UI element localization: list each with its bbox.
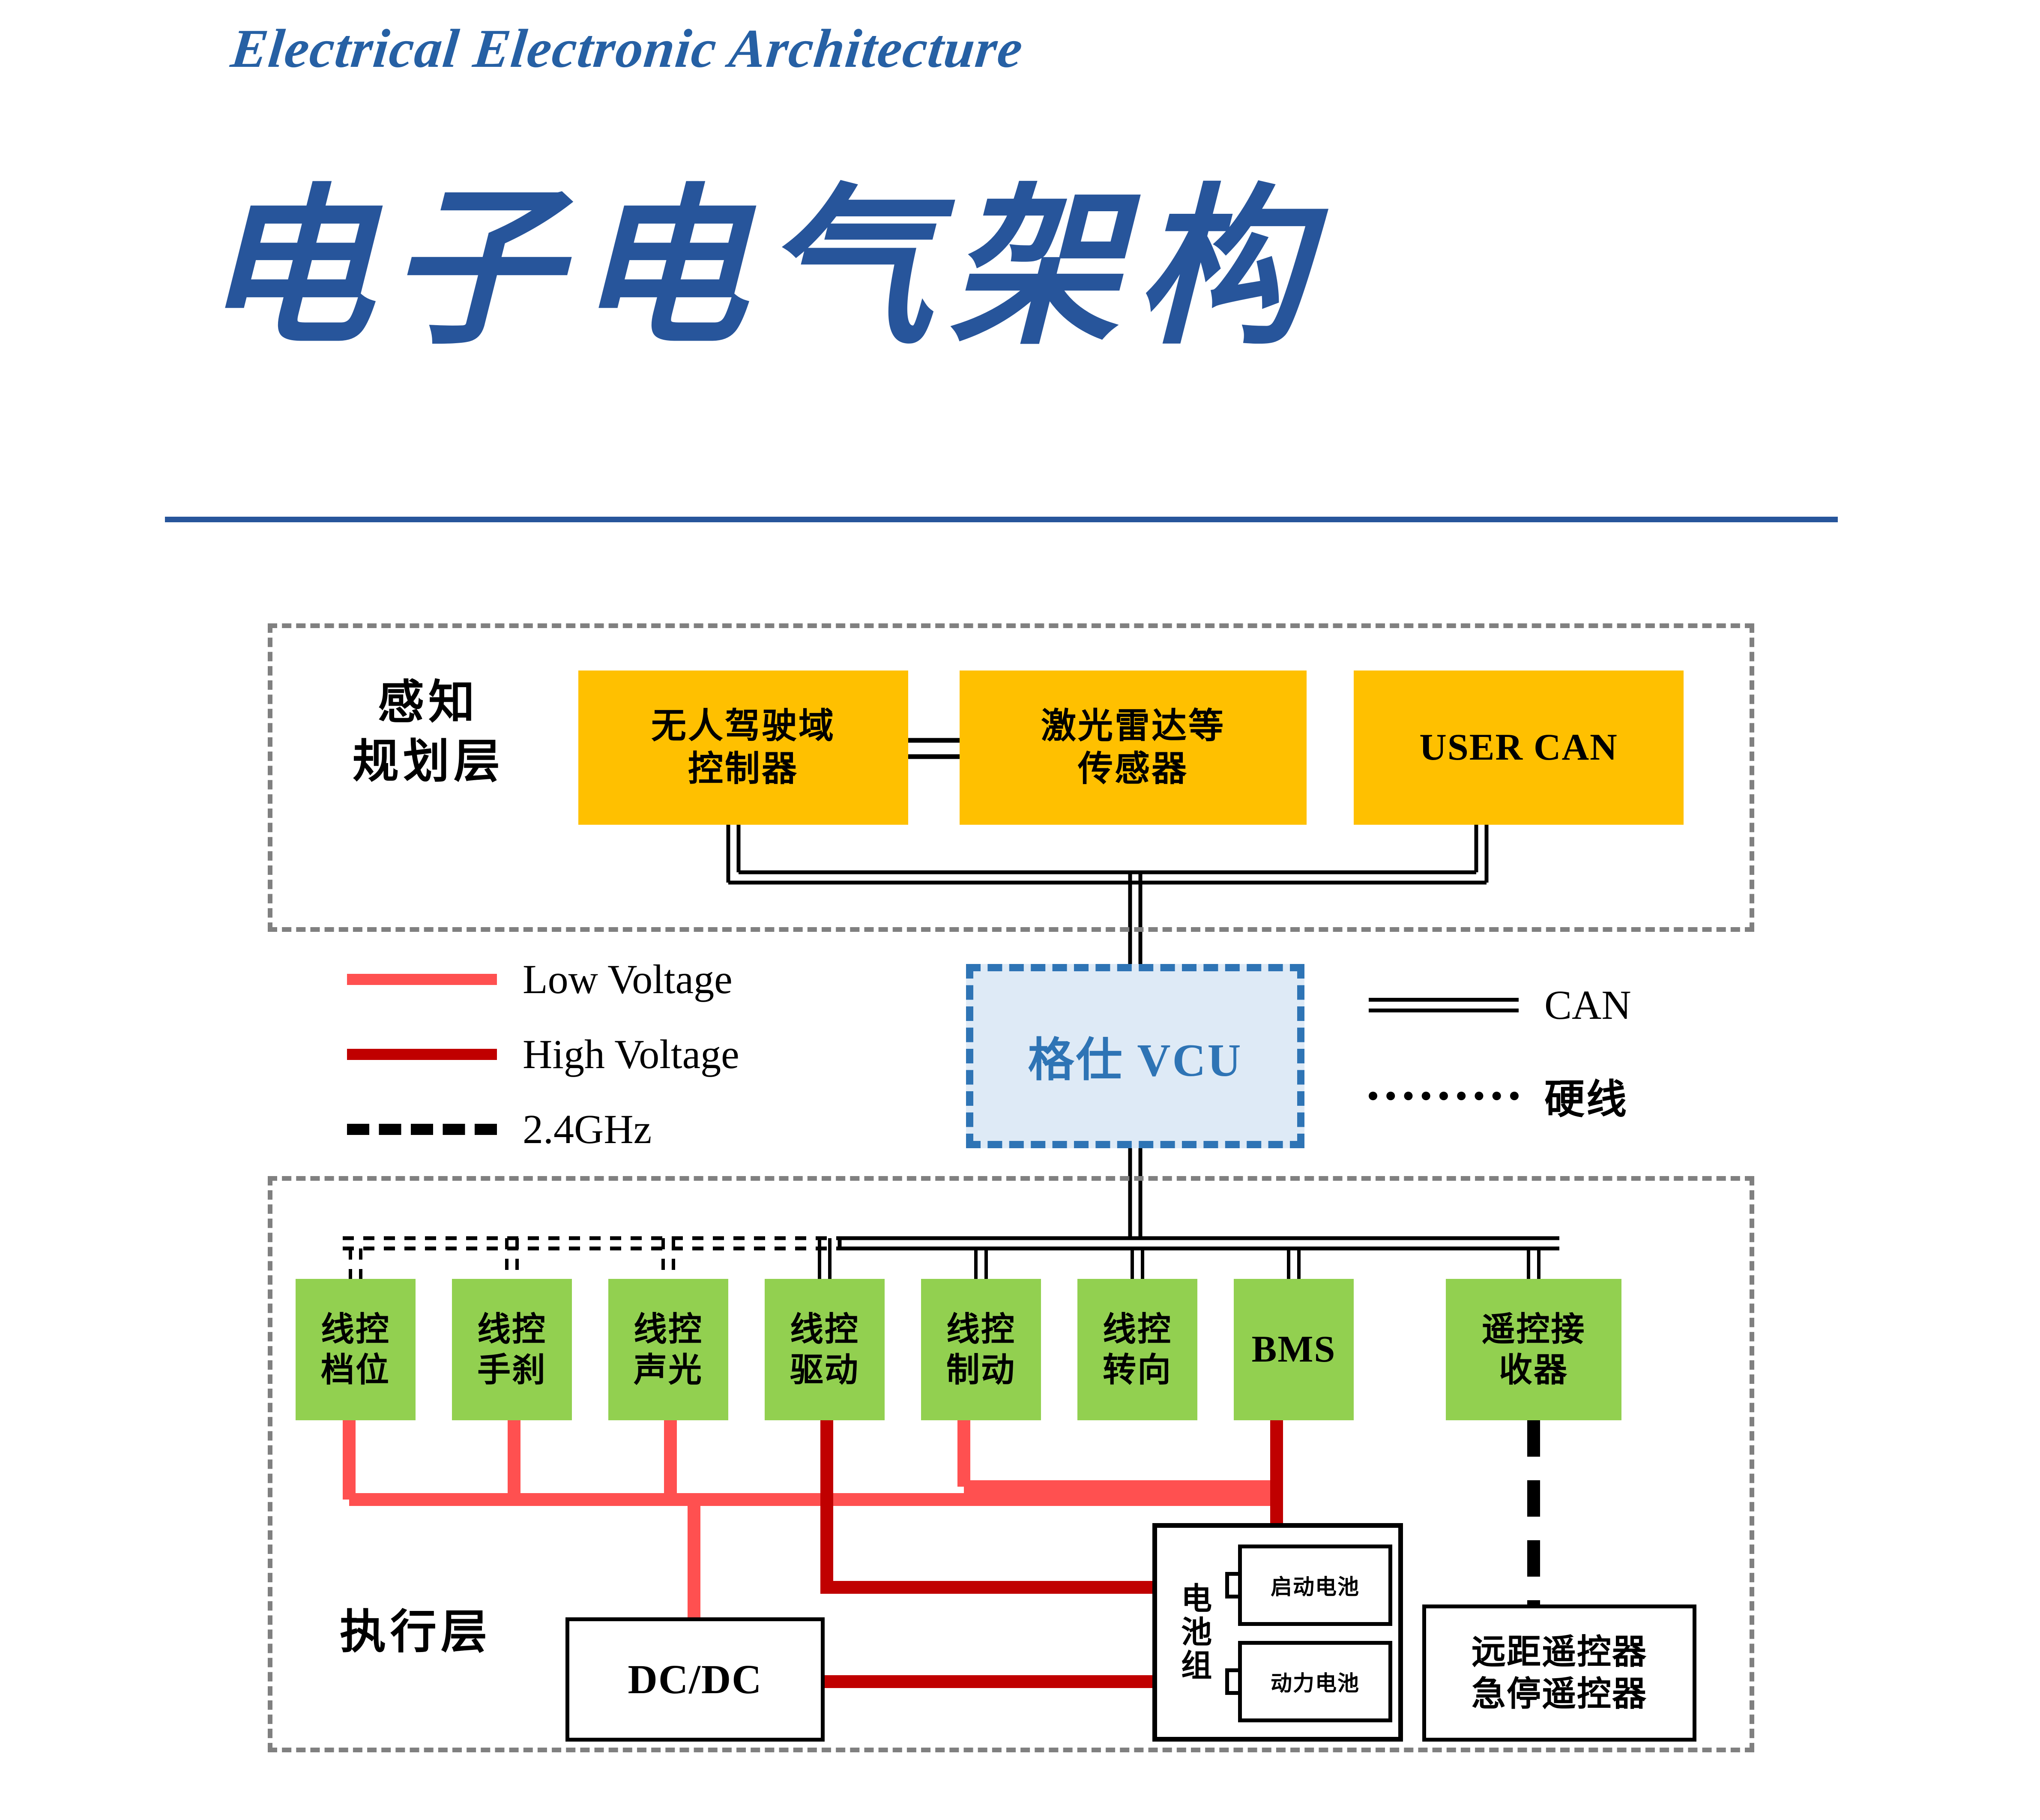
node-bms[interactable]: BMS xyxy=(1234,1279,1354,1420)
legend-item-low-voltage: Low Voltage xyxy=(347,955,733,1003)
battery-pack-label: 电池组 xyxy=(1165,1538,1221,1727)
title-divider-rule xyxy=(165,517,1838,522)
node-traction-battery[interactable]: 动力电池 xyxy=(1238,1641,1392,1722)
diagram-canvas: Electrical Electronic Architecture 电子电气架… xyxy=(0,0,2040,1820)
node-wire-control-sound-light[interactable]: 线控 声光 xyxy=(608,1279,728,1420)
page-title-chinese: 电子电气架构 xyxy=(201,184,1322,356)
node-wire-control-gear[interactable]: 线控 档位 xyxy=(296,1279,416,1420)
legend-item-hardwire: 硬线 xyxy=(1369,1067,1628,1125)
node-wire-control-handbrake[interactable]: 线控 手刹 xyxy=(452,1279,572,1420)
execution-layer-label: 执行层 xyxy=(326,1602,506,1661)
node-remote-controllers[interactable]: 远距遥控器 急停遥控器 xyxy=(1422,1604,1696,1742)
node-vcu[interactable]: 格仕 VCU xyxy=(966,964,1304,1148)
node-remote-receiver[interactable]: 遥控接 收器 xyxy=(1446,1279,1621,1420)
legend-label-rf: 2.4GHz xyxy=(523,1105,652,1153)
node-dcdc-converter[interactable]: DC/DC xyxy=(565,1617,825,1742)
node-wire-control-brake[interactable]: 线控 制动 xyxy=(921,1279,1041,1420)
legend-item-high-voltage: High Voltage xyxy=(347,1030,739,1078)
node-wire-control-steering[interactable]: 线控 转向 xyxy=(1077,1279,1197,1420)
node-user-can[interactable]: USER CAN xyxy=(1354,671,1684,825)
node-lidar-sensors[interactable]: 激光雷达等 传感器 xyxy=(960,671,1307,825)
can-double-line-icon xyxy=(1369,998,1519,1012)
low-voltage-line-icon xyxy=(347,974,497,985)
rf-dashed-line-icon xyxy=(347,1124,497,1135)
legend-label-can: CAN xyxy=(1544,981,1631,1029)
high-voltage-line-icon xyxy=(347,1049,497,1060)
legend-item-rf: 2.4GHz xyxy=(347,1105,652,1153)
hardwire-dotted-line-icon xyxy=(1369,1092,1519,1100)
node-autonomous-driving-controller[interactable]: 无人驾驶域 控制器 xyxy=(578,671,908,825)
legend-label-low-voltage: Low Voltage xyxy=(523,955,733,1003)
legend-label-hardwire: 硬线 xyxy=(1544,1067,1628,1125)
node-wire-control-drive[interactable]: 线控 驱动 xyxy=(765,1279,885,1420)
legend-label-high-voltage: High Voltage xyxy=(523,1030,739,1078)
perception-layer-label: 感知 规划层 xyxy=(338,673,518,791)
legend-item-can: CAN xyxy=(1369,981,1631,1029)
page-title-english: Electrical Electronic Architecture xyxy=(228,17,1026,80)
node-starter-battery[interactable]: 启动电池 xyxy=(1238,1545,1392,1626)
